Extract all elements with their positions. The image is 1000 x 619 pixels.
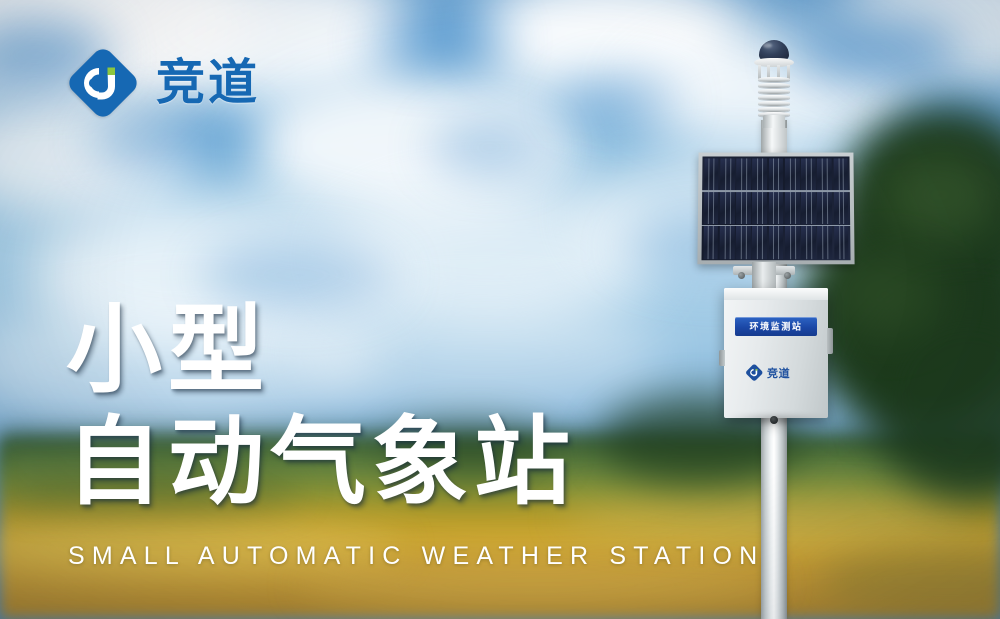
solar-cell xyxy=(720,158,735,190)
solar-cell xyxy=(752,158,767,190)
solar-cell xyxy=(801,158,816,190)
solar-cell xyxy=(833,158,848,190)
jingdao-diamond-logo-icon xyxy=(746,364,763,381)
radiation-shield xyxy=(758,77,790,117)
enclosure-brand-logo: 竞道 xyxy=(746,364,790,381)
brand-logo[interactable]: 竞道 xyxy=(66,46,260,120)
solar-cell xyxy=(785,192,800,225)
enclosure-banner-text: 环境监测站 xyxy=(749,320,802,333)
enclosure-banner: 环境监测站 xyxy=(735,317,817,336)
enclosure-box: 环境监测站 竞道 xyxy=(724,288,828,418)
solar-cell xyxy=(752,192,767,225)
solar-cell xyxy=(769,158,784,190)
solar-cell xyxy=(703,192,718,225)
headline-line-1: 小型 xyxy=(66,300,576,402)
enclosure-top xyxy=(724,288,828,300)
solar-panel-glass xyxy=(701,156,850,260)
sensor-dome-icon xyxy=(759,40,789,60)
solar-cell xyxy=(785,158,800,190)
solar-cell xyxy=(769,192,784,225)
solar-cell xyxy=(834,226,849,259)
solar-cell xyxy=(719,226,734,259)
bracket-bolt xyxy=(738,272,745,279)
enclosure-logo-text: 竞道 xyxy=(767,365,790,381)
solar-cell xyxy=(785,226,800,259)
headline-block: 小型 自动气象站 xyxy=(66,300,576,514)
solar-cell xyxy=(736,158,751,190)
solar-cell xyxy=(752,226,767,259)
solar-cell xyxy=(817,158,832,190)
weather-sensor-head xyxy=(752,40,796,145)
enclosure-latch xyxy=(719,350,725,366)
solar-cell xyxy=(769,226,784,259)
jingdao-diamond-logo-icon xyxy=(66,46,140,120)
solar-cell xyxy=(834,192,849,225)
solar-busbar xyxy=(702,190,850,191)
subtitle-text: SMALL AUTOMATIC WEATHER STATION xyxy=(68,542,764,571)
solar-cell xyxy=(817,192,832,225)
solar-cell xyxy=(720,192,735,225)
solar-cell xyxy=(704,158,719,190)
solar-cell xyxy=(736,192,751,225)
brand-name-text: 竞道 xyxy=(156,59,260,108)
bracket-bolt xyxy=(784,272,791,279)
solar-panel xyxy=(697,153,854,265)
solar-cell xyxy=(818,226,833,259)
solar-busbar xyxy=(702,225,850,227)
product-banner: 竞道 小型 自动气象站 SMALL AUTOMATIC WEATHER STAT… xyxy=(0,0,1000,619)
solar-cell-grid xyxy=(701,156,850,260)
headline-line-2: 自动气象站 xyxy=(66,412,576,514)
mast-cable-hole xyxy=(770,416,778,424)
enclosure-side-vent xyxy=(827,328,833,354)
solar-cell xyxy=(801,226,816,259)
solar-cell xyxy=(736,226,751,259)
solar-cell xyxy=(801,192,816,225)
solar-cell xyxy=(703,226,718,259)
